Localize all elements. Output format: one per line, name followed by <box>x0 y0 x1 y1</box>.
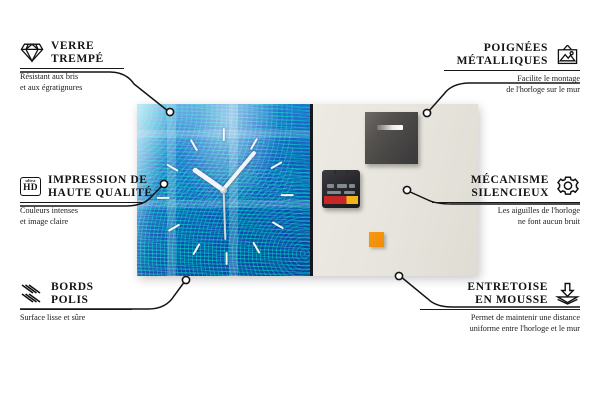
callout-desc-line: de l'horloge sur le mur <box>420 85 580 96</box>
callout-rule <box>444 70 580 71</box>
mechanism-detail <box>344 191 355 194</box>
callout-desc-line: Couleurs intenses <box>20 206 170 217</box>
callout-header: ultra HD IMPRESSION DE HAUTE QUALITÉ <box>20 174 170 199</box>
callout-header: VERRE TREMPÉ <box>20 40 150 65</box>
clock-tick <box>251 242 260 254</box>
polished-edge-lines-icon <box>20 283 44 304</box>
callout-title: IMPRESSION DE HAUTE QUALITÉ <box>48 174 153 199</box>
callout-silent-mechanism: MÉCANISME SILENCIEUX Les aiguilles de l'… <box>414 174 580 227</box>
callout-desc-line: et image claire <box>20 217 170 228</box>
callout-desc-line: Les aiguilles de l'horloge <box>414 206 580 217</box>
callout-polished-edges: BORDS POLIS Surface lisse et sûre <box>20 281 170 324</box>
callout-desc-line: ne font aucun bruit <box>414 217 580 228</box>
callout-metal-handles: POIGNÉES MÉTALLIQUES Facilite le montage… <box>420 42 580 95</box>
connector-dot-polished-edges <box>182 276 189 283</box>
callout-title: ENTRETOISE EN MOUSSE <box>467 281 548 306</box>
callout-rule <box>420 309 580 310</box>
mechanism-detail <box>327 191 341 194</box>
mechanism-label-band <box>324 196 358 204</box>
callout-header: ENTRETOISE EN MOUSSE <box>414 281 580 306</box>
mechanism-loop <box>334 170 348 174</box>
clock-tick <box>249 138 258 150</box>
callout-desc-line: Résistant aux bris <box>20 72 150 83</box>
callout-desc-line: et aux égratignures <box>20 83 150 94</box>
callout-desc-line: Surface lisse et sûre <box>20 313 170 324</box>
callout-tempered-glass: VERRE TREMPÉ Résistant aux bris et aux é… <box>20 40 150 93</box>
infographic-canvas: VERRE TREMPÉ Résistant aux bris et aux é… <box>0 0 600 400</box>
callout-header: MÉCANISME SILENCIEUX <box>414 174 580 199</box>
callout-print-quality: ultra HD IMPRESSION DE HAUTE QUALITÉ Cou… <box>20 174 170 227</box>
clock-minute-hand <box>222 150 258 191</box>
clock-tick <box>189 139 198 151</box>
callout-header: BORDS POLIS <box>20 281 170 306</box>
clock-tick <box>225 252 227 265</box>
callout-title: POIGNÉES MÉTALLIQUES <box>457 42 548 67</box>
clock-tick <box>222 128 224 141</box>
callout-title: VERRE TREMPÉ <box>51 40 104 65</box>
badge-main-text: HD <box>23 184 38 193</box>
ultra-hd-badge-icon: ultra HD <box>20 177 41 196</box>
foam-spacer-part <box>369 232 384 247</box>
callout-rule <box>20 202 142 203</box>
quartz-clock-mechanism <box>322 170 360 208</box>
clock-tick <box>280 194 293 196</box>
clock-tick <box>271 221 283 230</box>
hanging-picture-frame-icon <box>555 44 580 66</box>
callout-header: POIGNÉES MÉTALLIQUES <box>420 42 580 67</box>
callout-desc-line: Facilite le montage <box>420 74 580 85</box>
clock-second-hand <box>223 190 226 240</box>
clock-center-hub <box>220 187 227 194</box>
callout-desc-line: uniforme entre l'horloge et le mur <box>414 324 580 335</box>
metal-hanging-plate <box>365 112 418 164</box>
callout-desc-line: Permet de maintenir une distance <box>414 313 580 324</box>
gear-icon <box>556 175 580 198</box>
mechanism-detail <box>337 184 347 188</box>
clock-tick <box>166 163 178 172</box>
diamond-icon <box>20 42 44 63</box>
clock-tick <box>191 243 200 255</box>
clock-tick <box>270 161 282 170</box>
callout-rule <box>20 309 132 310</box>
callout-title: BORDS POLIS <box>51 281 94 306</box>
arrow-down-onto-pad-icon <box>555 282 580 305</box>
mechanism-detail <box>349 184 355 188</box>
callout-foam-spacer: ENTRETOISE EN MOUSSE Permet de maintenir… <box>414 281 580 334</box>
callout-rule <box>20 68 124 69</box>
callout-title: MÉCANISME SILENCIEUX <box>471 174 549 199</box>
callout-rule <box>432 202 580 203</box>
mechanism-detail <box>327 184 334 188</box>
